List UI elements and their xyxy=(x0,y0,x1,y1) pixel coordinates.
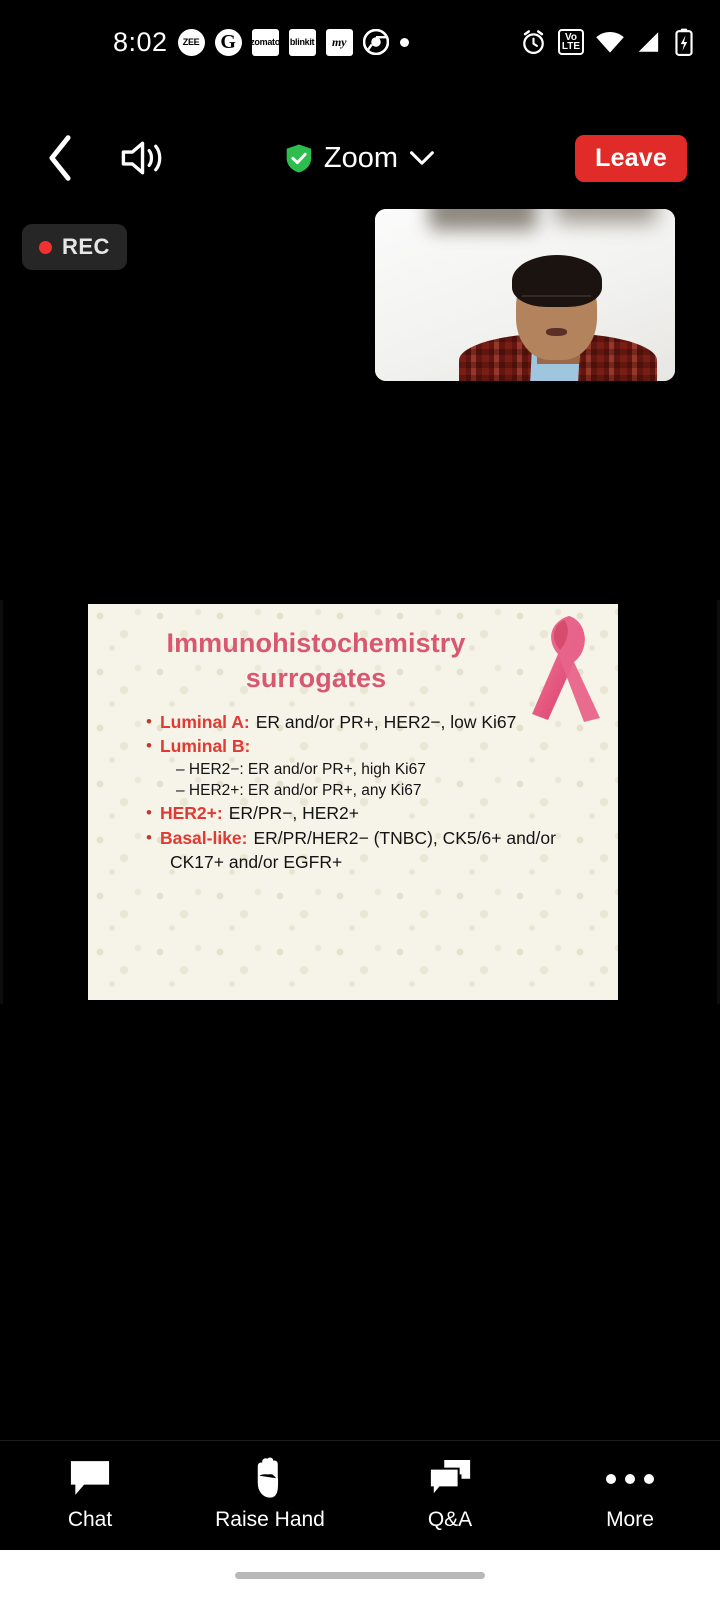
toolbar-label-more: More xyxy=(606,1508,654,1532)
recording-dot-icon xyxy=(39,241,52,254)
meeting-toolbar: Chat Raise Hand Q&A More xyxy=(0,1440,720,1550)
chrome-notification-icon xyxy=(363,29,390,56)
bullet-rest: ER/PR/HER2− (TNBC), CK5/6+ and/or xyxy=(254,828,556,848)
status-bar-left: 8:02 ZEE G zomato blinkit my xyxy=(113,29,409,56)
ellipsis-icon xyxy=(606,1460,654,1498)
toolbar-item-qa[interactable]: Q&A xyxy=(360,1460,540,1532)
video-bg-object-right xyxy=(555,209,657,223)
zee5-icon-label: ZEE xyxy=(183,38,200,47)
blinkit-icon-label: blinkit xyxy=(290,38,314,47)
slide-bullet-item: • HER2+:ER/PR−, HER2+ xyxy=(146,802,618,824)
wifi-icon xyxy=(595,29,625,55)
toolbar-label-raise-hand: Raise Hand xyxy=(215,1508,325,1532)
shared-screen-left-edge xyxy=(0,600,3,1004)
zomato-notification-icon: zomato xyxy=(252,29,279,56)
slide-bullet-item: • Luminal B: xyxy=(146,735,618,757)
slide-sub-bullet-item: – HER2+: ER and/or PR+, any Ki67 xyxy=(176,781,618,801)
leave-button[interactable]: Leave xyxy=(575,135,687,182)
toolbar-label-chat: Chat xyxy=(68,1508,112,1532)
toolbar-item-more[interactable]: More xyxy=(540,1460,720,1532)
sub-bullet-text: – HER2+: ER and/or PR+, any Ki67 xyxy=(176,781,422,801)
alarm-icon xyxy=(520,29,547,56)
status-bar: 8:02 ZEE G zomato blinkit my xyxy=(0,0,720,84)
bullet-rest: ER/PR−, HER2+ xyxy=(229,803,359,823)
zoom-meeting-screen: 8:02 ZEE G zomato blinkit my xyxy=(0,0,720,1600)
pink-awareness-ribbon-icon xyxy=(512,610,612,722)
back-button[interactable] xyxy=(40,136,80,180)
toolbar-label-qa: Q&A xyxy=(428,1508,472,1532)
sub-bullet-text: – HER2−: ER and/or PR+, high Ki67 xyxy=(176,760,426,780)
status-bar-right: Vo LTE xyxy=(520,28,694,56)
speaker-icon xyxy=(119,137,169,179)
shield-check-icon xyxy=(285,143,313,174)
recording-badge: REC xyxy=(22,224,127,270)
more-notifications-dot xyxy=(400,38,409,47)
volte-bottom: LTE xyxy=(562,42,580,51)
bullet-lead: HER2+: xyxy=(160,803,223,823)
meeting-title-dropdown[interactable]: Zoom xyxy=(285,142,435,175)
bullet-marker-icon: • xyxy=(146,827,152,849)
chevron-left-icon xyxy=(45,135,75,181)
bullet-marker-icon: • xyxy=(146,711,152,733)
zomato-icon-label: zomato xyxy=(252,38,279,47)
meeting-top-bar: Zoom Leave xyxy=(0,110,720,206)
bullet-rest: ER and/or PR+, HER2−, low Ki67 xyxy=(256,712,517,732)
bullet-marker-icon: • xyxy=(146,735,152,757)
self-view-video-thumbnail[interactable] xyxy=(375,209,675,381)
blinkit-notification-icon: blinkit xyxy=(289,29,316,56)
audio-speaker-button[interactable] xyxy=(118,134,170,182)
hand-icon xyxy=(250,1460,290,1498)
qa-bubbles-icon xyxy=(427,1460,473,1498)
toolbar-item-chat[interactable]: Chat xyxy=(0,1460,180,1532)
home-indicator[interactable] xyxy=(235,1572,485,1579)
volte-icon: Vo LTE xyxy=(558,29,584,55)
bullet-lead: Basal-like: xyxy=(160,828,248,848)
myntra-notification-icon: my xyxy=(326,29,353,56)
system-navigation-area xyxy=(0,1550,720,1600)
chat-bubble-icon xyxy=(68,1460,112,1498)
cellular-signal-icon xyxy=(636,29,663,55)
video-bg-object-left xyxy=(429,209,537,230)
myntra-icon-label: my xyxy=(332,36,346,48)
battery-charging-icon xyxy=(674,28,694,56)
participant-glasses xyxy=(522,295,591,307)
slide-bullet-item: • Basal-like:ER/PR/HER2− (TNBC), CK5/6+ … xyxy=(146,827,618,849)
recording-label: REC xyxy=(62,234,110,260)
shared-slide[interactable]: Immunohistochemistry surrogates • Lumina… xyxy=(88,604,618,1000)
google-notification-icon: G xyxy=(215,29,242,56)
meeting-title: Zoom xyxy=(324,142,398,175)
zee5-notification-icon: ZEE xyxy=(178,29,205,56)
toolbar-item-raise-hand[interactable]: Raise Hand xyxy=(180,1460,360,1532)
bullet-lead: Luminal A: xyxy=(160,712,250,732)
bullet-lead: Luminal B: xyxy=(160,736,250,756)
bullet-marker-icon: • xyxy=(146,802,152,824)
slide-bullet-list: • Luminal A:ER and/or PR+, HER2−, low Ki… xyxy=(146,711,618,874)
status-bar-clock: 8:02 xyxy=(113,29,168,56)
chevron-down-icon xyxy=(409,150,435,166)
google-icon-label: G xyxy=(220,32,235,52)
slide-sub-bullet-item: – HER2−: ER and/or PR+, high Ki67 xyxy=(176,760,618,780)
participant-mouth xyxy=(546,328,567,337)
slide-bullet-continuation: CK17+ and/or EGFR+ xyxy=(170,851,618,874)
